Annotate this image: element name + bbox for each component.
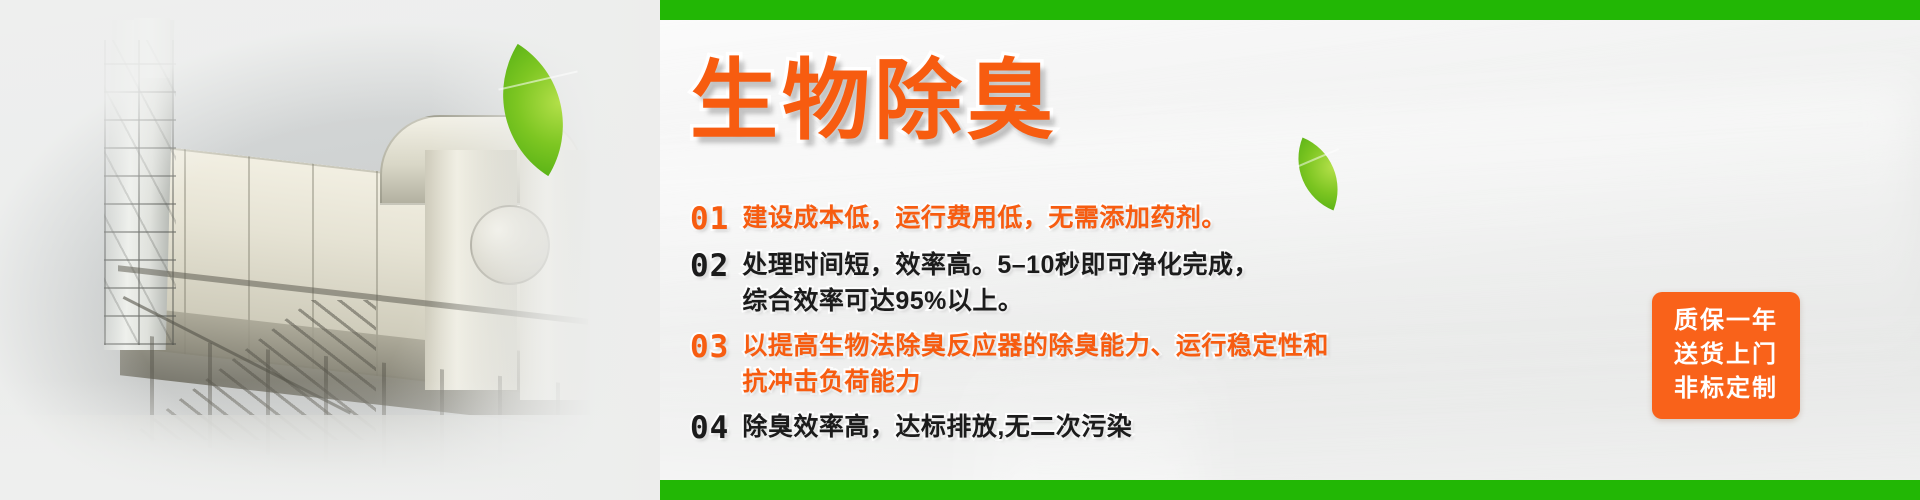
guarantee-badge: 质保一年送货上门非标定制 [1652, 292, 1800, 419]
feature-text-line: 综合效率可达95%以上。 [742, 283, 1510, 319]
feature-text-line: 抗冲击负荷能力 [742, 364, 1510, 400]
feature-number: 04 [690, 409, 729, 447]
feature-text-line: 处理时间短，效率高。5–10秒即可净化完成， [742, 247, 1510, 283]
feature-text-line: 以提高生物法除臭反应器的除臭能力、运行稳定性和 [742, 328, 1510, 364]
feature-item: 04除臭效率高，达标排放,无二次污染 [690, 409, 1510, 447]
feature-text: 处理时间短，效率高。5–10秒即可净化完成，综合效率可达95%以上。 [742, 247, 1510, 319]
feature-text: 除臭效率高，达标排放,无二次污染 [742, 409, 1510, 445]
green-bar-top [620, 0, 1920, 20]
badge-line: 送货上门 [1662, 338, 1790, 372]
feature-item: 01建设成本低，运行费用低，无需添加药剂。 [690, 200, 1510, 238]
feature-list: 01建设成本低，运行费用低，无需添加药剂。02处理时间短，效率高。5–10秒即可… [690, 200, 1510, 456]
feature-text: 以提高生物法除臭反应器的除臭能力、运行稳定性和抗冲击负荷能力 [742, 328, 1510, 400]
feature-number: 01 [690, 200, 729, 238]
feature-number: 02 [690, 247, 729, 285]
feature-item: 02处理时间短，效率高。5–10秒即可净化完成，综合效率可达95%以上。 [690, 247, 1510, 319]
feature-text-line: 建设成本低，运行费用低，无需添加药剂。 [742, 200, 1510, 236]
feature-item: 03以提高生物法除臭反应器的除臭能力、运行稳定性和抗冲击负荷能力 [690, 328, 1510, 400]
green-bar-bottom [635, 480, 1920, 500]
feature-number: 03 [690, 328, 729, 366]
feature-text: 建设成本低，运行费用低，无需添加药剂。 [742, 200, 1510, 236]
badge-line: 质保一年 [1662, 304, 1790, 338]
feature-text-line: 除臭效率高，达标排放,无二次污染 [742, 409, 1510, 445]
promo-banner: 生物除臭 01建设成本低，运行费用低，无需添加药剂。02处理时间短，效率高。5–… [0, 0, 1920, 500]
badge-line: 非标定制 [1662, 372, 1790, 406]
page-title: 生物除臭 [690, 57, 1058, 145]
leaf-vein [1296, 148, 1338, 167]
